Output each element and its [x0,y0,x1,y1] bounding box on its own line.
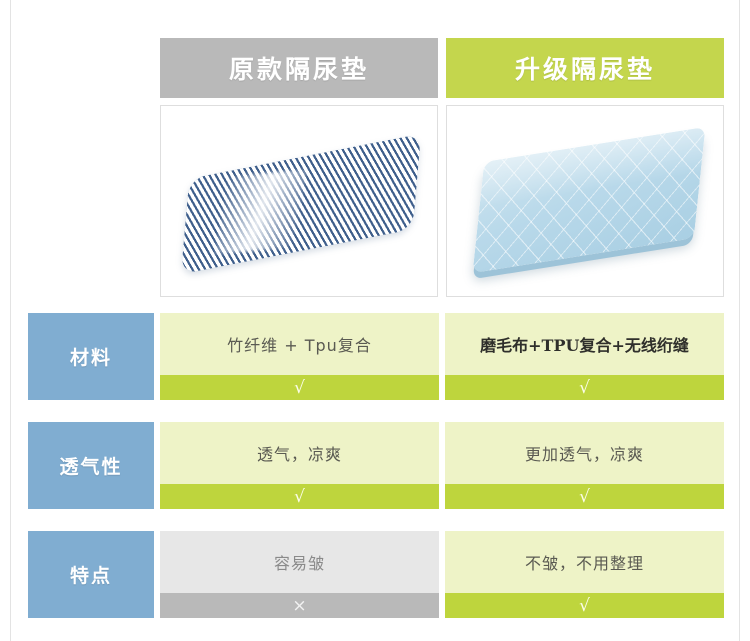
cell-value-text: 更加透气，凉爽 [445,422,724,484]
check-icon: √ [160,484,439,509]
cell-new-material: 磨毛布+TPU复合+无线绗缝 √ [445,313,724,400]
column-header-old: 原款隔尿垫 [160,38,438,98]
product-photo-old [160,105,438,297]
cell-old-material: 竹纤维 + Tpu复合 √ [160,313,439,400]
row-values: 透气，凉爽 √ 更加透气，凉爽 √ [160,422,724,509]
column-header-new: 升级隔尿垫 [446,38,724,98]
cell-new-features: 不皱，不用整理 √ [445,531,724,618]
cell-value-text: 磨毛布+TPU复合+无线绗缝 [445,313,724,375]
row-values: 竹纤维 + Tpu复合 √ 磨毛布+TPU复合+无线绗缝 √ [160,313,724,400]
check-icon: √ [445,375,724,400]
cell-old-breathability: 透气，凉爽 √ [160,422,439,509]
check-icon: √ [160,375,439,400]
table-row: 特点 容易皱 × 不皱，不用整理 √ [28,531,724,618]
comparison-infographic: 原款隔尿垫 升级隔尿垫 材料 竹纤维 + Tpu复合 √ 磨毛布+TPU复合+ [0,0,750,641]
cell-new-breathability: 更加透气，凉爽 √ [445,422,724,509]
cell-value-text: 透气，凉爽 [160,422,439,484]
product-column-new: 升级隔尿垫 [446,38,724,297]
product-photo-new [446,105,724,297]
cell-old-features: 容易皱 × [160,531,439,618]
product-columns: 原款隔尿垫 升级隔尿垫 [160,38,724,297]
quilted-mat-image [473,127,706,273]
flat-glossy-mat-image [181,134,421,274]
cell-value-text: 竹纤维 + Tpu复合 [160,313,439,375]
row-label-breathability: 透气性 [28,422,154,509]
cross-icon: × [160,593,439,618]
page-border-left [10,0,11,641]
check-icon: √ [445,593,724,618]
cell-value-text: 不皱，不用整理 [445,531,724,593]
table-row: 透气性 透气，凉爽 √ 更加透气，凉爽 √ [28,422,724,509]
table-row: 材料 竹纤维 + Tpu复合 √ 磨毛布+TPU复合+无线绗缝 √ [28,313,724,400]
check-icon: √ [445,484,724,509]
page-border-right [739,0,740,641]
cell-value-text: 容易皱 [160,531,439,593]
comparison-table: 材料 竹纤维 + Tpu复合 √ 磨毛布+TPU复合+无线绗缝 √ 透气性 透气… [28,313,724,618]
product-column-old: 原款隔尿垫 [160,38,438,297]
row-values: 容易皱 × 不皱，不用整理 √ [160,531,724,618]
row-label-material: 材料 [28,313,154,400]
row-label-features: 特点 [28,531,154,618]
